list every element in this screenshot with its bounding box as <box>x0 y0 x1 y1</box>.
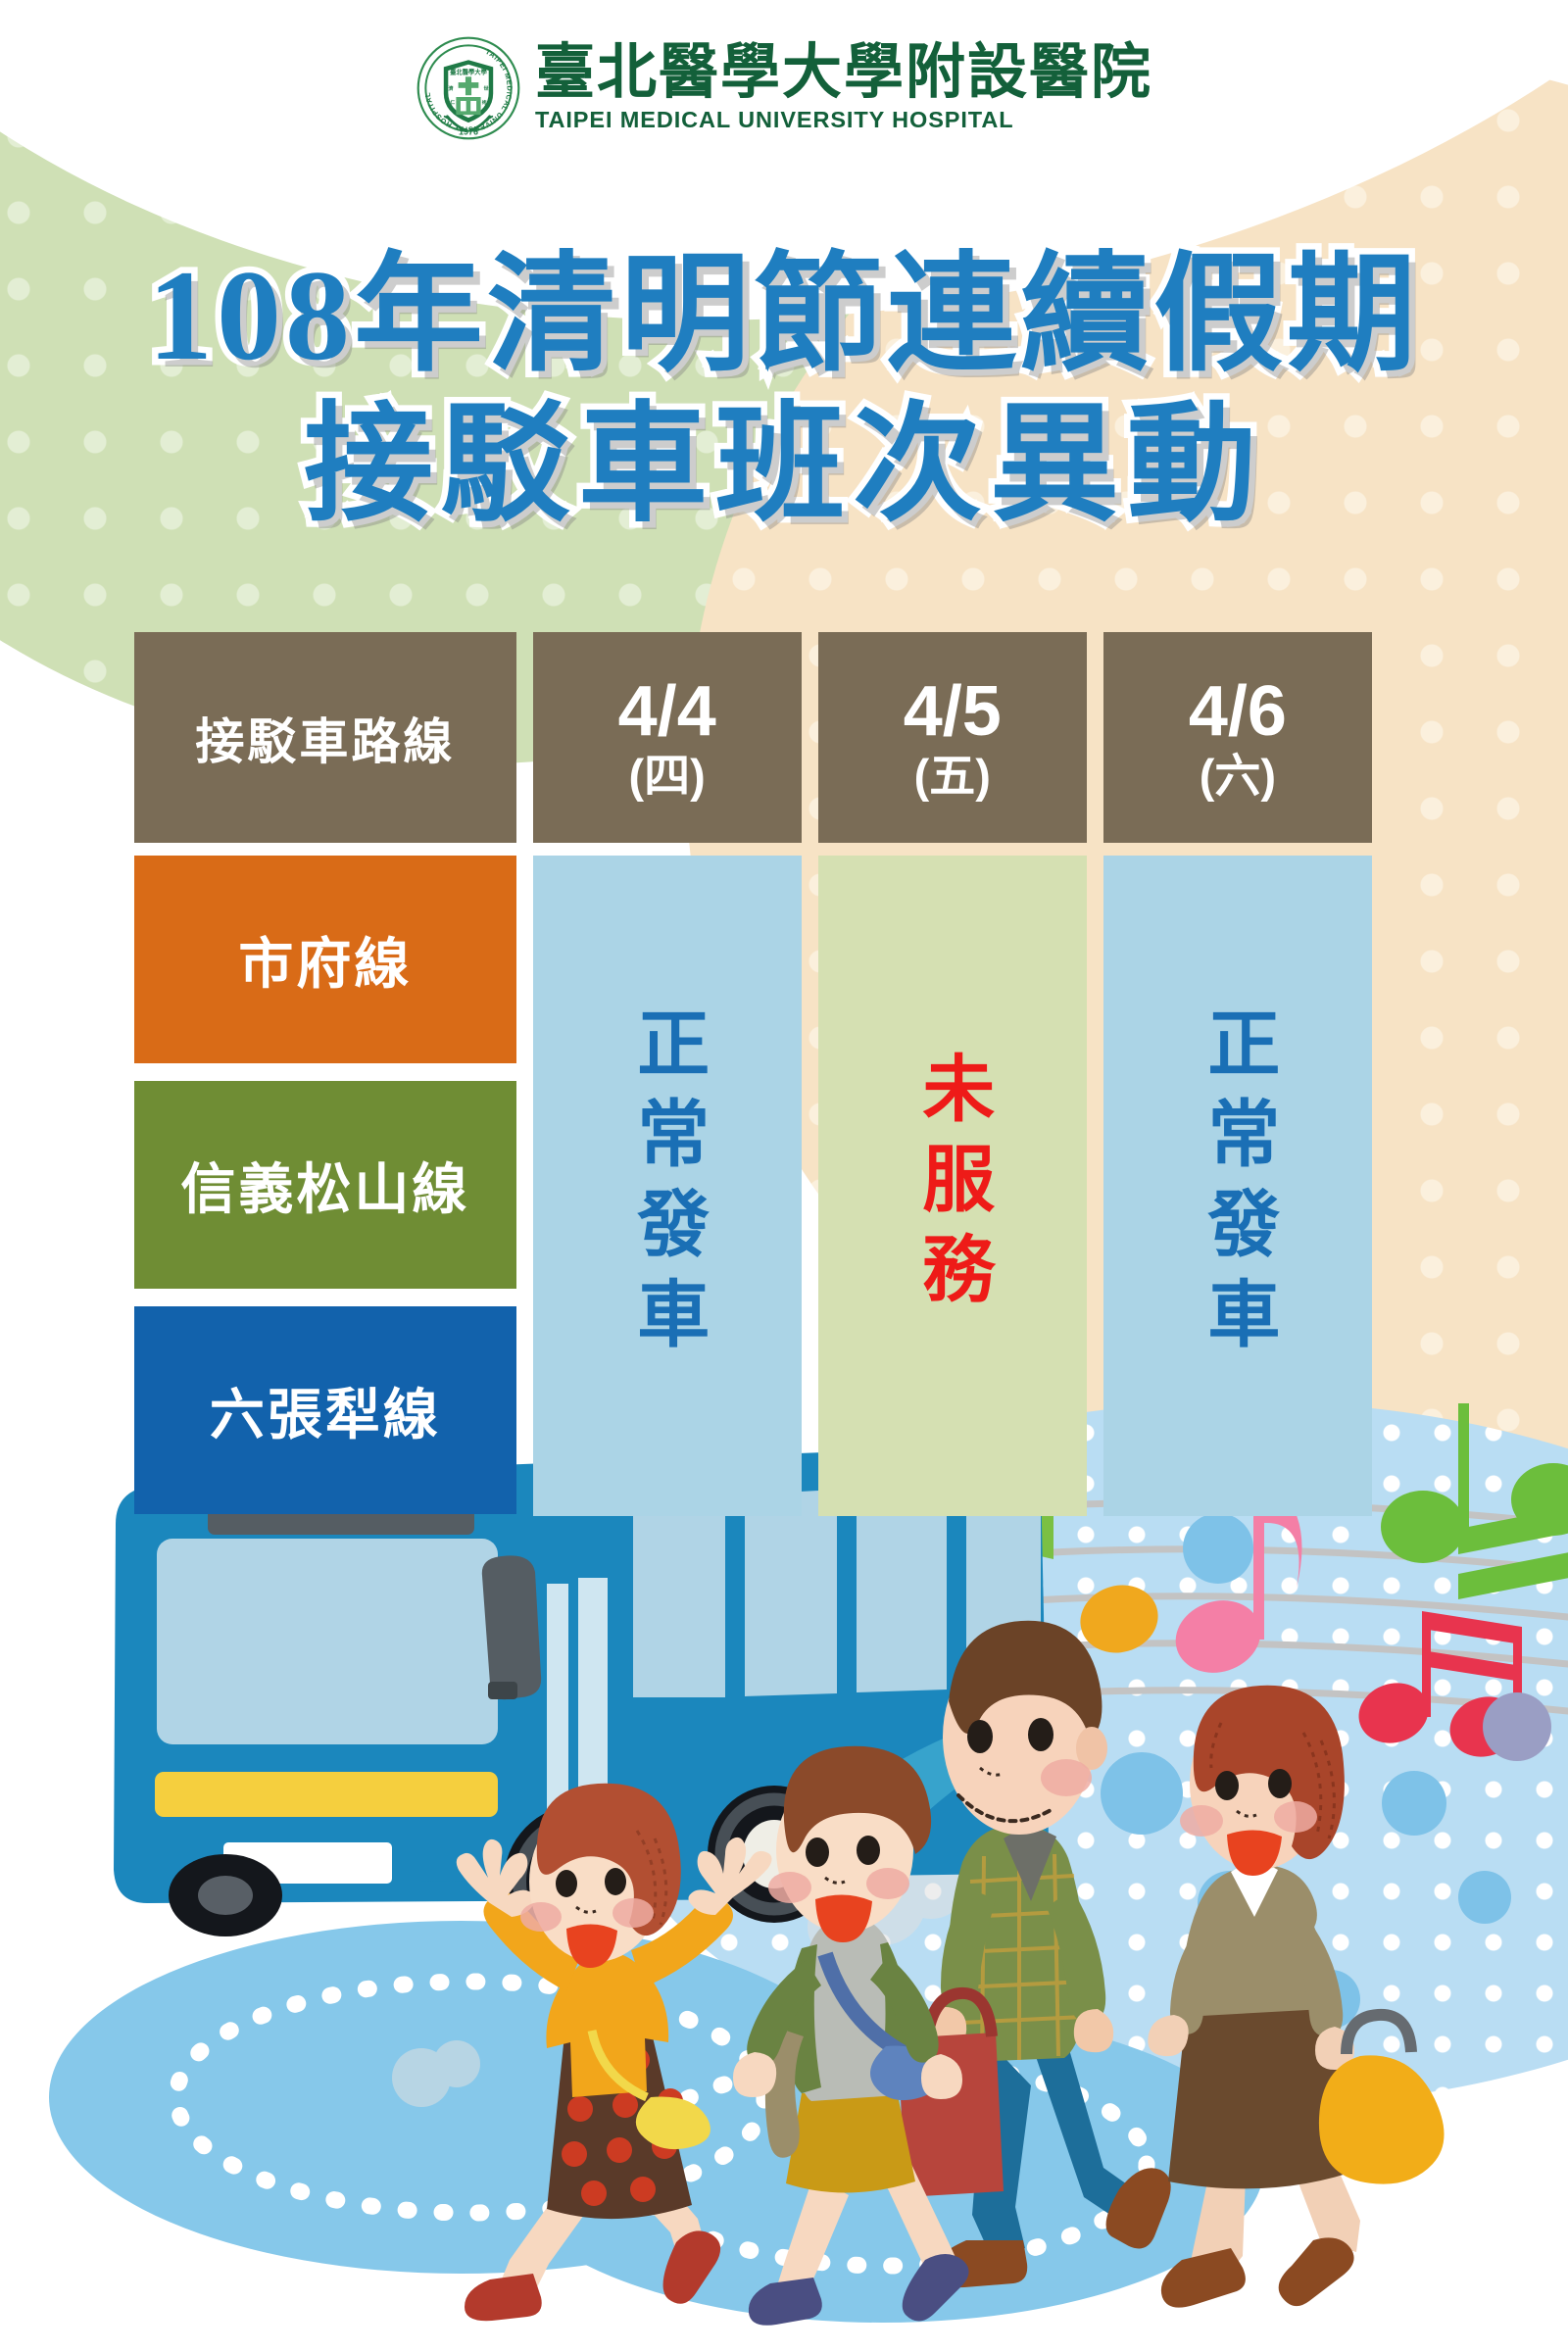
header-date-1: 4/5 (五) <box>818 632 1087 843</box>
status-column-1: 未服務 <box>818 856 1087 1516</box>
header-date-1-weekday: (五) <box>914 753 991 799</box>
decor-bubble-1 <box>1183 1513 1253 1584</box>
header-route-label: 接駁車路線 <box>134 632 516 843</box>
bus-wheel-small <box>169 1854 282 1936</box>
svg-text:仁: 仁 <box>450 99 455 106</box>
table-body: 市府線 信義松山線 六張犁線 正常發車 未服務 正常發車 <box>134 856 1372 1516</box>
green-beamed-note-icon <box>1381 1382 1568 1599</box>
header-date-2-date: 4/6 <box>1189 676 1287 747</box>
decor-bubble-2 <box>1483 1692 1551 1761</box>
svg-text:濟: 濟 <box>448 85 453 92</box>
svg-text:世: 世 <box>483 85 488 92</box>
status-column-0: 正常發車 <box>533 856 802 1516</box>
svg-text:臺北醫學大學: 臺北醫學大學 <box>450 68 487 76</box>
title-line-2: 接駁車班次異動 <box>0 390 1568 540</box>
hospital-name-cn: 臺北醫學大學附設醫院 <box>535 43 1152 104</box>
decor-bubble-4 <box>1101 1752 1183 1835</box>
header-date-2: 4/6 (六) <box>1103 632 1372 843</box>
status-column-2: 正常發車 <box>1103 856 1372 1516</box>
status-text-2: 正常發車 <box>1201 1005 1274 1366</box>
poster-title: 108年清明節連續假期 接駁車班次異動 <box>0 240 1568 540</box>
header-date-0: 4/4 (四) <box>533 632 802 843</box>
orange-note-head-icon <box>1072 1576 1166 1661</box>
header-date-2-weekday: (六) <box>1200 753 1276 799</box>
route-cell-0: 市府線 <box>134 856 516 1063</box>
header-date-0-date: 4/4 <box>618 676 716 747</box>
shuttle-schedule-table: 接駁車路線 4/4 (四) 4/5 (五) 4/6 (六) 市府線 信義松山線 … <box>134 632 1372 1516</box>
logo-year: 1976 <box>459 127 478 137</box>
decor-bubble-3 <box>1382 1771 1446 1836</box>
header-date-0-weekday: (四) <box>629 753 706 799</box>
status-text-1: 未服務 <box>916 1051 989 1321</box>
table-header-row: 接駁車路線 4/4 (四) 4/5 (五) 4/6 (六) <box>134 632 1372 843</box>
decor-bubble-6 <box>1458 1871 1511 1924</box>
title-line-1: 108年清明節連續假期 <box>0 240 1568 390</box>
hospital-name-en: TAIPEI MEDICAL UNIVERSITY HOSPITAL <box>535 107 1152 133</box>
hospital-header: TAIPEI MEDICAL UNIVERSITY HOSPITAL 臺北醫學大… <box>0 35 1568 141</box>
status-text-0: 正常發車 <box>631 1005 704 1366</box>
header-date-1-date: 4/5 <box>904 676 1002 747</box>
route-cell-1: 信義松山線 <box>134 1081 516 1289</box>
route-cell-2: 六張犁線 <box>134 1306 516 1514</box>
svg-text:術: 術 <box>481 99 487 106</box>
route-name-column: 市府線 信義松山線 六張犁線 <box>134 856 516 1516</box>
tmuh-crest-logo-icon: TAIPEI MEDICAL UNIVERSITY HOSPITAL 臺北醫學大… <box>416 35 521 141</box>
